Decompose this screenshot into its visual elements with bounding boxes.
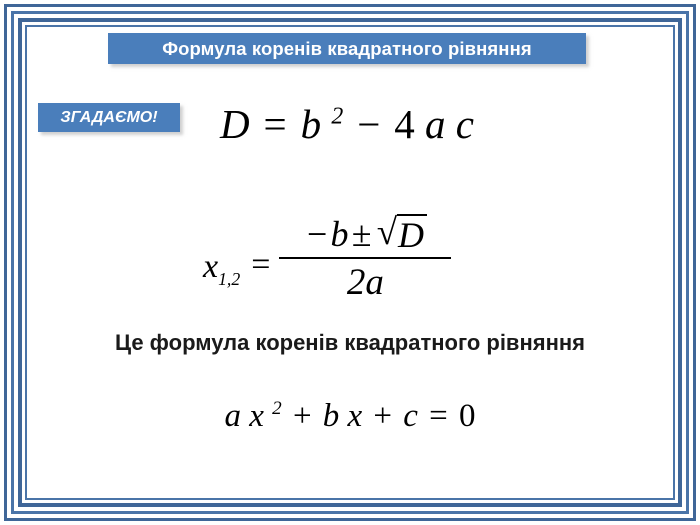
radical-sign: √	[377, 214, 397, 251]
discriminant-formula: D = b 2 − 4 a c	[220, 100, 474, 148]
general-equals: =	[426, 398, 451, 434]
roots-plus-minus: ±	[348, 213, 374, 255]
roots-denominator: 2a	[347, 259, 384, 304]
discriminant-minus: −	[354, 101, 385, 147]
general-term-a: a	[225, 398, 242, 434]
general-plus-2: +	[370, 398, 395, 434]
discriminant-coefficient: 4	[394, 101, 415, 147]
page-title: Формула коренів квадратного рівняння	[162, 38, 532, 60]
discriminant-exponent: 2	[331, 103, 343, 129]
general-term-x: x	[249, 398, 264, 434]
roots-numerator-minus: −	[304, 213, 331, 255]
roots-formula: x1,2 = − b ± √ D 2a	[203, 213, 451, 304]
discriminant-term-c: c	[456, 101, 474, 147]
general-term-x2: x	[348, 398, 363, 434]
roots-numerator: − b ± √ D	[298, 213, 433, 257]
general-term-b: b	[323, 398, 340, 434]
roots-fraction: − b ± √ D 2a	[279, 213, 451, 304]
general-term-c: c	[403, 398, 418, 434]
slide-content-area: Формула коренів квадратного рівняння ЗГА…	[28, 28, 672, 497]
roots-equals: =	[251, 246, 270, 284]
roots-denominator-number: 2	[347, 262, 366, 303]
general-exponent: 2	[272, 398, 282, 419]
general-plus-1: +	[290, 398, 315, 434]
slide-canvas: Формула коренів квадратного рівняння ЗГА…	[0, 0, 700, 525]
discriminant-term-a: a	[425, 101, 446, 147]
general-quadratic-formula: a x 2 + b x + c = 0	[28, 398, 672, 435]
recall-badge: ЗГАДАЄМО!	[38, 103, 180, 132]
general-rhs: 0	[459, 398, 476, 434]
recall-badge-label: ЗГАДАЄМО!	[60, 109, 157, 127]
caption-text: Це формула коренів квадратного рівняння	[28, 330, 672, 356]
roots-numerator-b: b	[330, 213, 348, 255]
roots-denominator-variable: a	[365, 262, 384, 303]
discriminant-base-b: b	[301, 101, 322, 147]
square-root-icon: √ D	[377, 216, 427, 255]
discriminant-lhs: D	[220, 101, 250, 147]
roots-lhs: x1,2	[203, 248, 240, 290]
slide-title-band: Формула коренів квадратного рівняння	[108, 33, 586, 64]
discriminant-equals: =	[260, 101, 291, 147]
roots-radicand: D	[397, 214, 427, 253]
roots-lhs-subscript: 1,2	[218, 268, 240, 288]
roots-lhs-variable: x	[203, 248, 218, 285]
